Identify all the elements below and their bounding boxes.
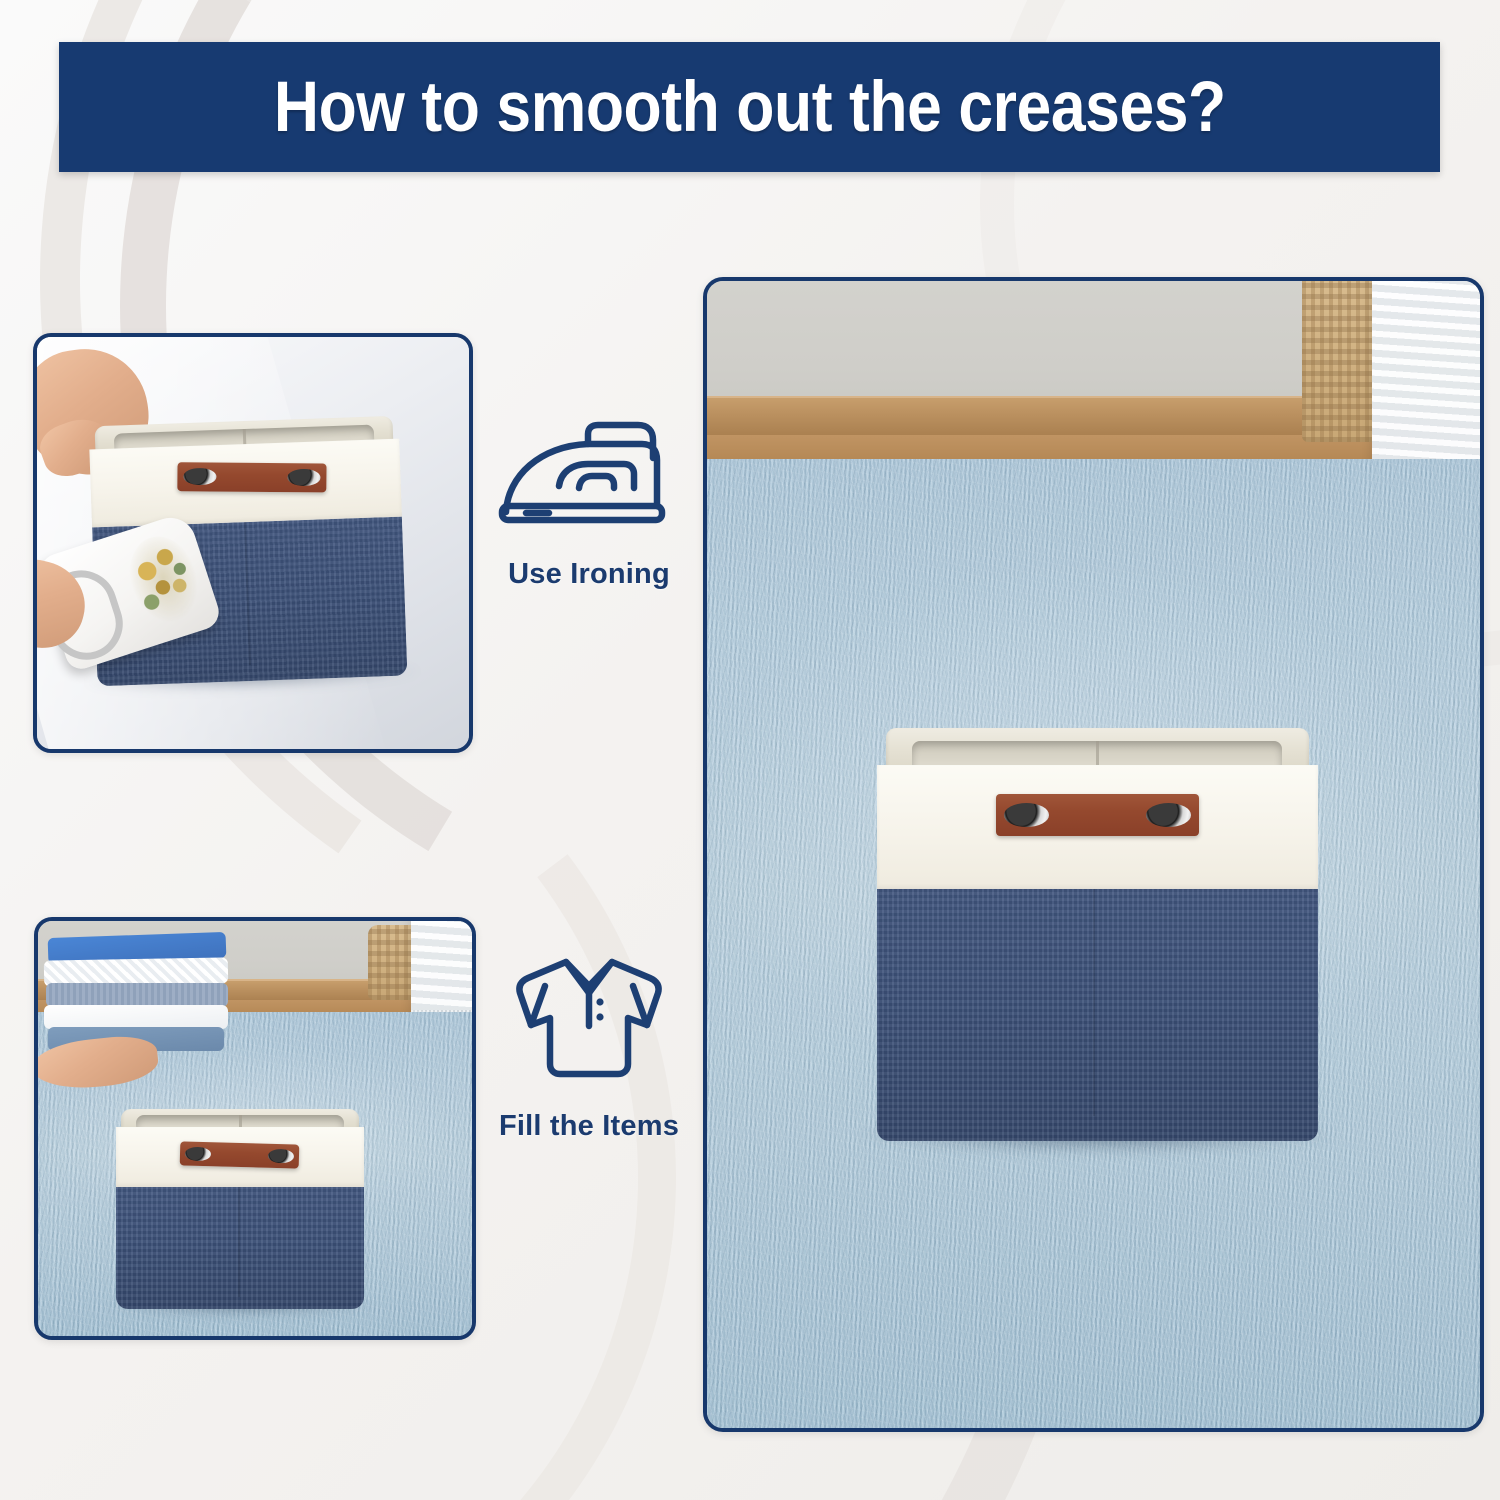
- storage-basket-photo2: [116, 1109, 364, 1309]
- folded-cloth-white: [44, 1005, 228, 1029]
- photo-finished-basket: [703, 277, 1484, 1432]
- basket-blue-body: [116, 1187, 364, 1309]
- photo-fill-the-basket-content: [38, 921, 472, 1336]
- step-label-use-ironing: Use Ironing: [508, 558, 670, 591]
- steamer-floral-print: [119, 528, 209, 632]
- basket-leather-handle: [996, 794, 1199, 835]
- step-fill-the-items: Fill the Items: [477, 952, 701, 1143]
- photo-iron-the-basket: [33, 333, 473, 753]
- storage-basket-main: [877, 728, 1318, 1141]
- basket-blue-body: [877, 889, 1318, 1141]
- title-banner: How to smooth out the creases?: [59, 42, 1440, 172]
- product-infographic-page: How to smooth out the creases?: [0, 0, 1500, 1500]
- basket-center-seam: [1093, 889, 1095, 1116]
- basket-center-seam: [238, 1187, 240, 1297]
- folded-clothes-stack: [44, 935, 240, 1053]
- basket-leather-handle: [180, 1141, 300, 1168]
- basket-leather-handle: [177, 462, 326, 492]
- folded-cloth-gray-ribbed: [46, 983, 228, 1007]
- photo-iron-the-basket-content: [37, 337, 469, 749]
- step-label-fill-the-items: Fill the Items: [499, 1110, 679, 1143]
- photo-finished-basket-content: [707, 281, 1480, 1428]
- page-title: How to smooth out the creases?: [274, 67, 1226, 148]
- step-use-ironing: Use Ironing: [477, 420, 701, 591]
- polo-shirt-icon: [500, 952, 678, 1080]
- clothes-iron-icon: [496, 420, 682, 528]
- photo-fill-the-basket: [34, 917, 476, 1340]
